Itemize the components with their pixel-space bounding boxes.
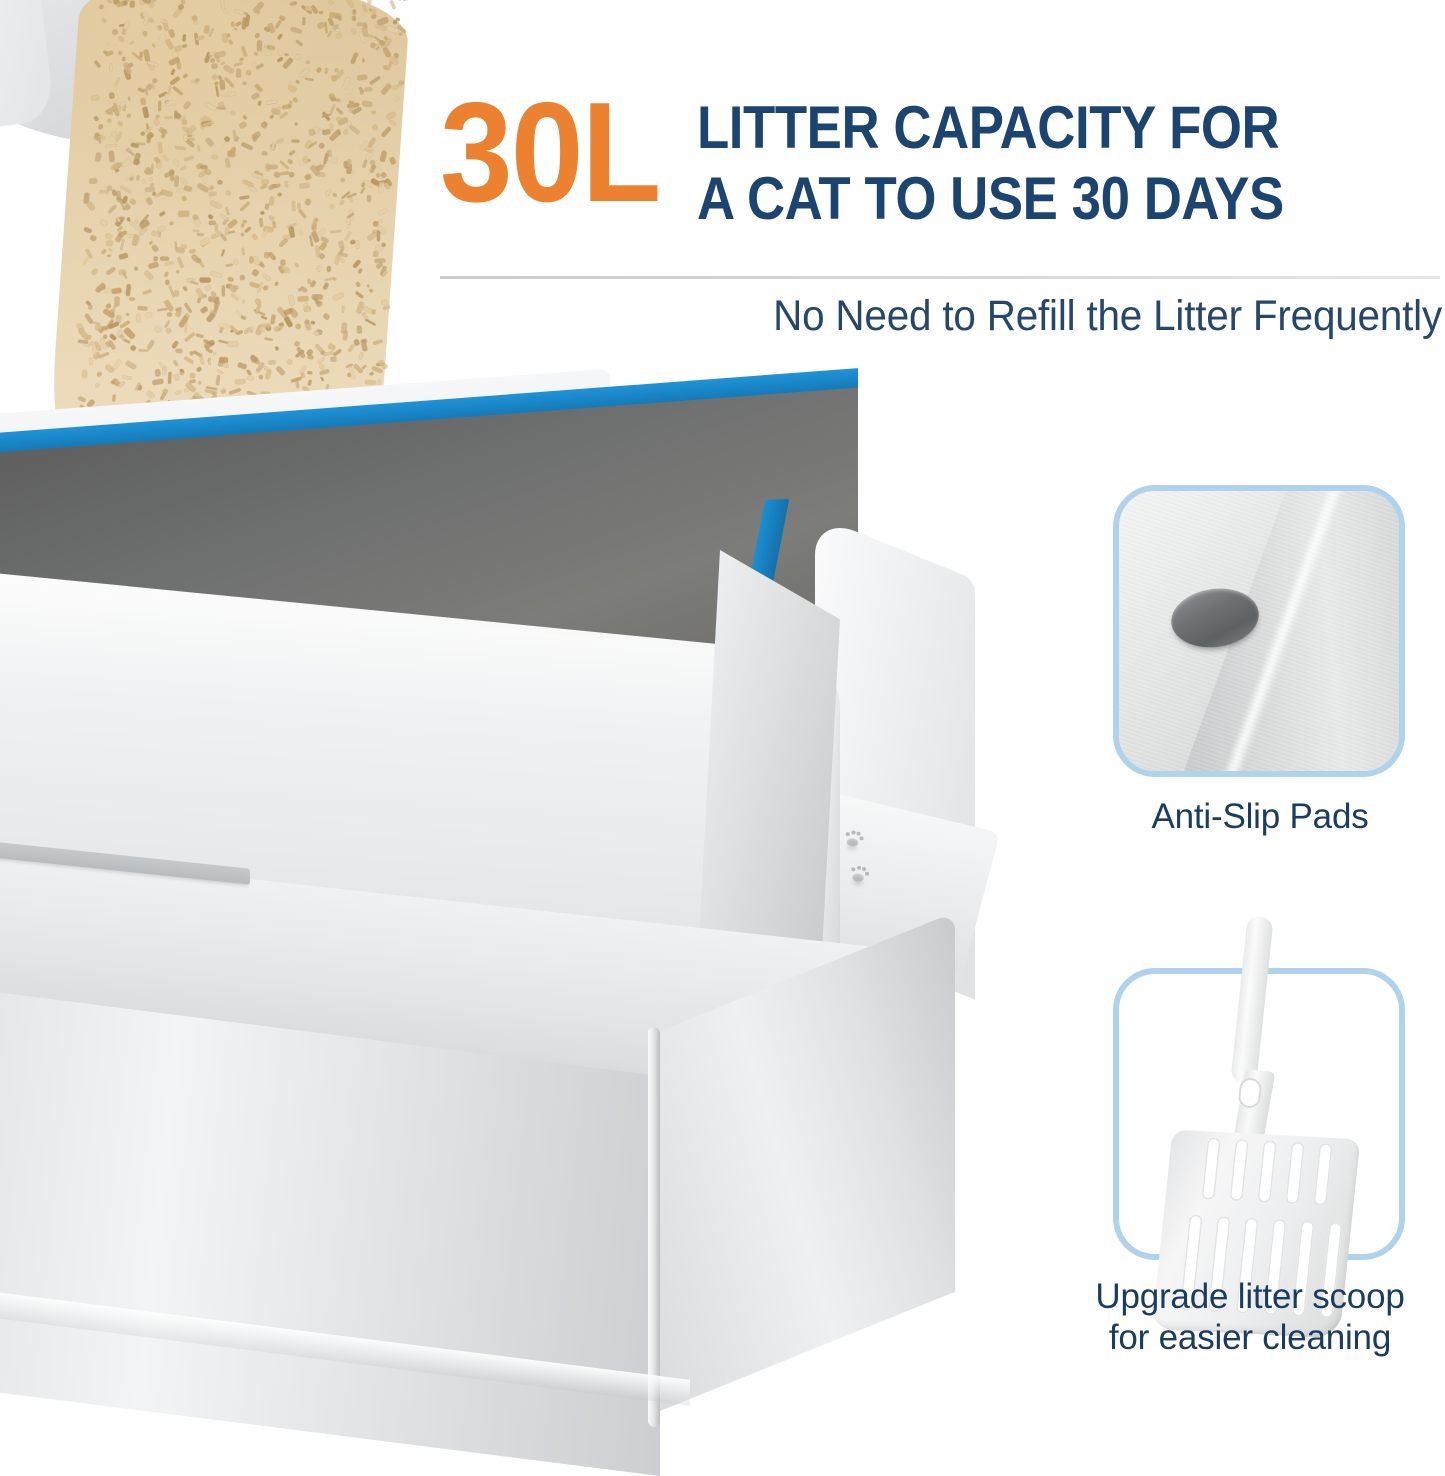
anti-slip-pads-frame [1113,485,1405,777]
product-photo [0,0,1060,1376]
callout-anti-slip-pads [1113,485,1405,777]
tray-corner-edge [648,1026,660,1427]
steel-grain-texture [1119,491,1399,771]
tray-front-panel [0,975,660,1476]
litter-scoop-caption-line-1: Upgrade litter scoop [1060,1276,1440,1317]
steel-corner-icon [1119,491,1399,771]
tray-side-panel [655,912,955,1413]
scoop-slot [1201,1137,1220,1199]
litter-scoop-icon [1119,974,1399,1254]
litter-scoop-caption: Upgrade litter scoop for easier cleaning [1060,1276,1440,1359]
callout-litter-scoop [1113,968,1405,1260]
scoop-slot [1229,1139,1248,1201]
stainless-steel-tray [0,975,1070,1445]
scoop-handle [1230,915,1273,1085]
paw-print [841,827,868,851]
scoop-slot [1313,1143,1332,1205]
scoop-slot [1285,1142,1304,1204]
scoop-slot [1257,1140,1276,1202]
litter-scoop-frame [1113,968,1405,1260]
litter-scoop-caption-line-2: for easier cleaning [1060,1317,1440,1358]
paw-print [846,862,873,886]
anti-slip-pads-caption: Anti-Slip Pads [1085,796,1435,837]
